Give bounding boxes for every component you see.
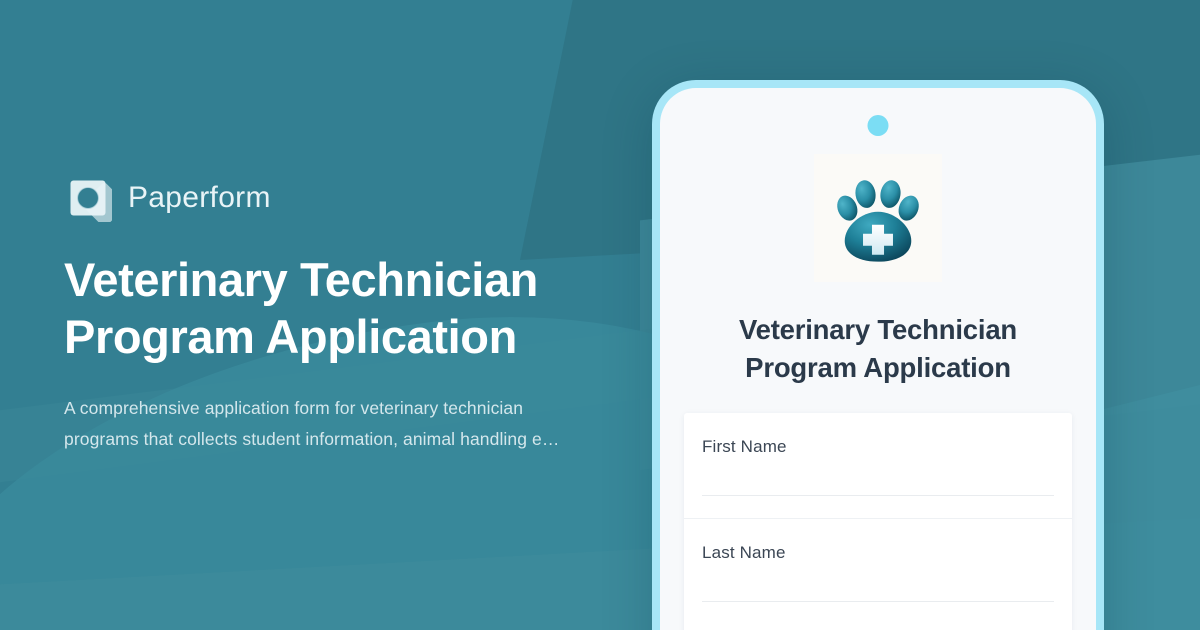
page-title: Veterinary Technician Program Applicatio… <box>64 252 624 365</box>
page-description: A comprehensive application form for vet… <box>64 393 564 455</box>
hero-text-column: Paperform Veterinary Technician Program … <box>64 0 664 630</box>
form-title: Veterinary Technician Program Applicatio… <box>660 311 1096 387</box>
field-label-first-name: First Name <box>702 437 1054 457</box>
field-spacer <box>702 496 1054 518</box>
field-first-name[interactable]: First Name <box>684 413 1072 518</box>
field-label-last-name: Last Name <box>702 543 1054 563</box>
form-logo <box>814 154 942 282</box>
brand-lockup: Paperform <box>64 174 271 222</box>
phone-mockup: Veterinary Technician Program Applicatio… <box>652 80 1104 630</box>
paperform-star-logo-icon <box>64 174 112 222</box>
form-card: First Name Last Name <box>684 413 1072 630</box>
field-last-name[interactable]: Last Name <box>684 518 1072 624</box>
camera-dot-icon <box>868 115 889 136</box>
brand-name: Paperform <box>128 181 271 215</box>
veterinary-paw-cross-icon <box>826 166 930 270</box>
field-spacer <box>702 602 1054 624</box>
